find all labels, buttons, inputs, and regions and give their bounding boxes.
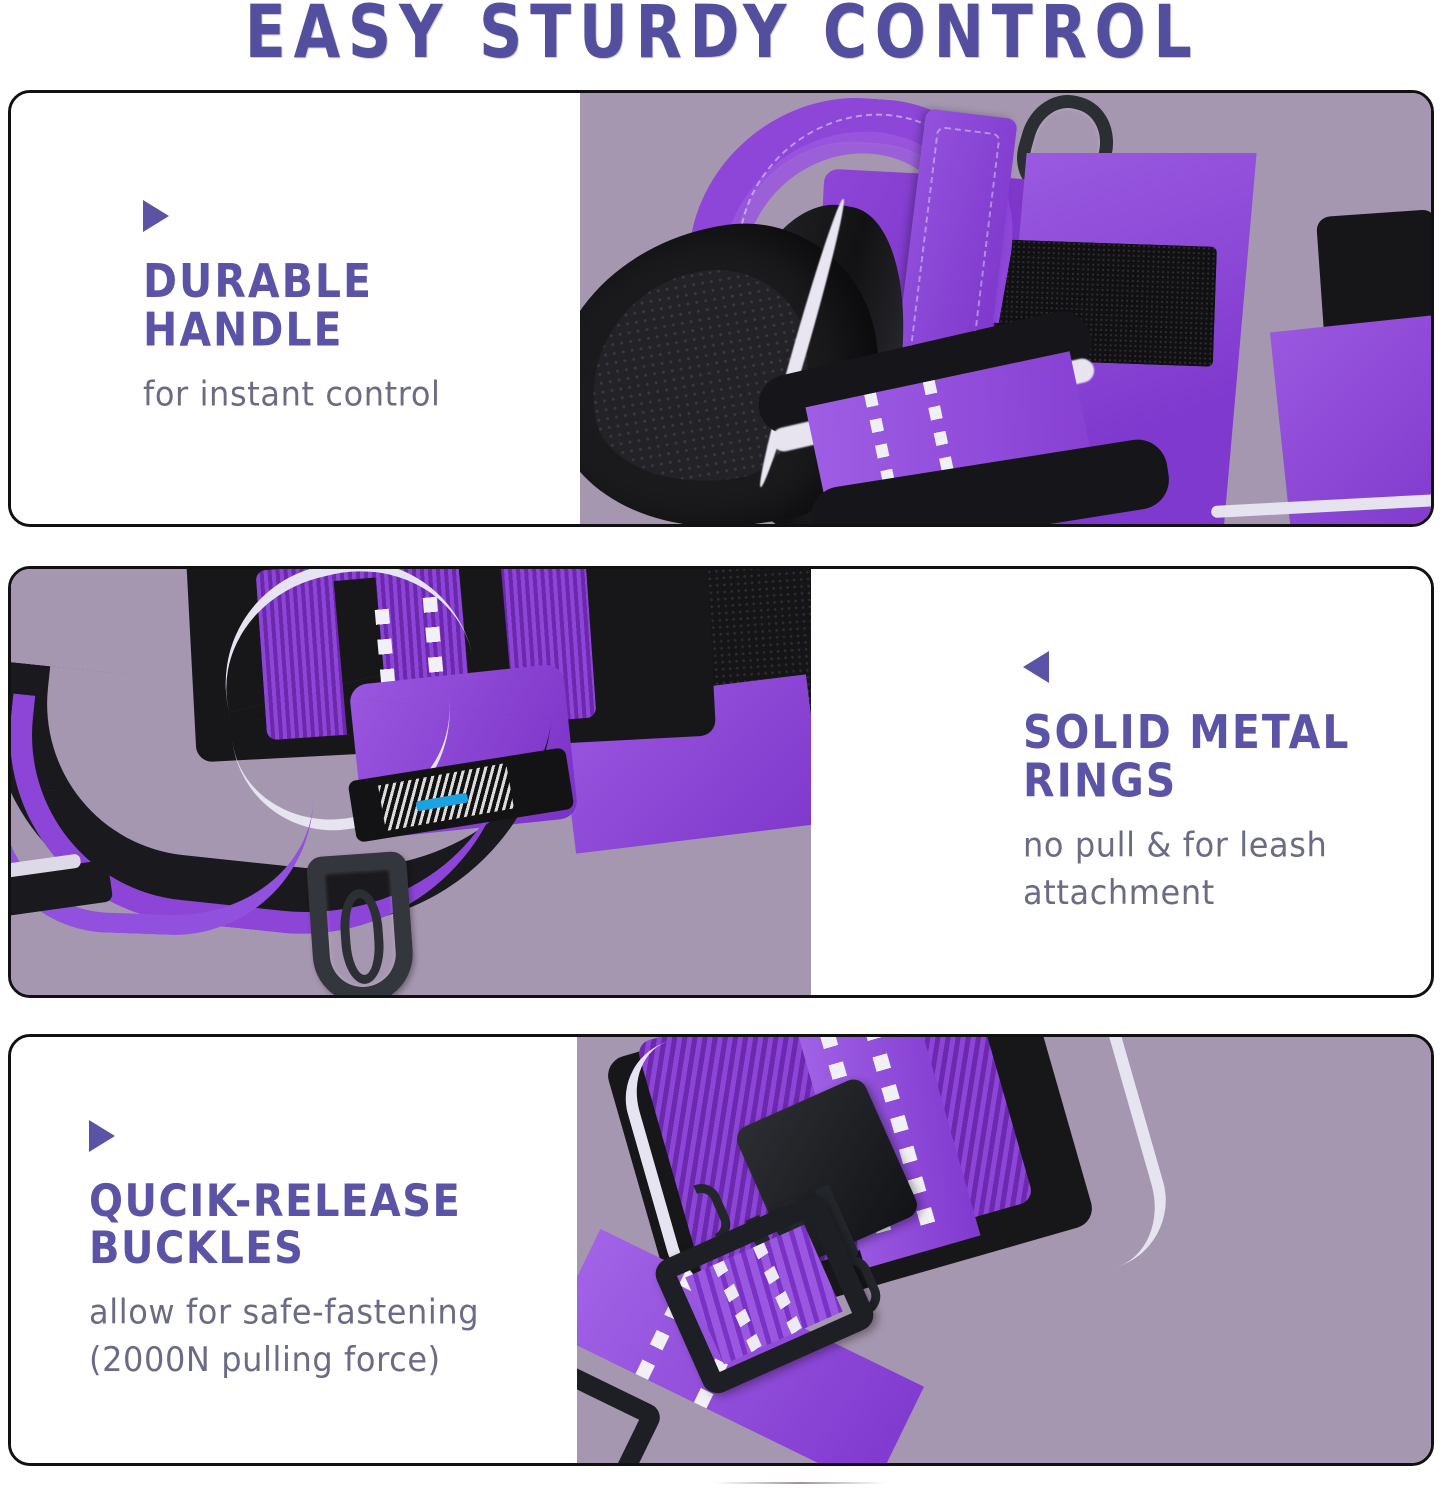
feature-panel-quick-release-buckles: QUCIK-RELEASE BUCKLES allow for safe-fas… [8, 1034, 1434, 1466]
panel-heading: DURABLE HANDLE [143, 258, 556, 355]
page-title-bar: EASY STURDY CONTROL [0, 0, 1444, 66]
page-title: EASY STURDY CONTROL [245, 0, 1200, 74]
panel-subtext: for instant control [143, 371, 556, 419]
feature-panel-solid-metal-rings: SOLID METAL RINGS no pull & for leash at… [8, 566, 1434, 998]
buckle-illustration [577, 1037, 1431, 1463]
triangle-right-icon [89, 1120, 115, 1152]
harness-handle-illustration [580, 93, 1431, 524]
panel-heading: SOLID METAL RINGS [1023, 709, 1407, 806]
feature-panel-durable-handle: DURABLE HANDLE for instant control [8, 90, 1434, 527]
panel-text-block: SOLID METAL RINGS no pull & for leash at… [811, 569, 1431, 995]
panel-photo-durable-handle [580, 93, 1431, 524]
bottom-divider [715, 1482, 885, 1484]
right-purple-panel [1270, 315, 1431, 524]
panel-photo-metal-rings [11, 569, 811, 995]
triangle-right-icon [143, 200, 169, 232]
panel-text-block: DURABLE HANDLE for instant control [11, 93, 580, 524]
triangle-left-icon [1023, 651, 1049, 683]
panel-subtext: allow for safe-fastening (2000N pulling … [89, 1289, 553, 1384]
infographic-page: EASY STURDY CONTROL DURABLE HANDLE for i… [0, 0, 1444, 1500]
panel-text-block: QUCIK-RELEASE BUCKLES allow for safe-fas… [11, 1037, 577, 1463]
panel-photo-quick-release [577, 1037, 1431, 1463]
panel-subtext: no pull & for leash attachment [1023, 822, 1407, 917]
harness-ring-illustration [11, 569, 811, 995]
panel-heading: QUCIK-RELEASE BUCKLES [89, 1178, 553, 1273]
